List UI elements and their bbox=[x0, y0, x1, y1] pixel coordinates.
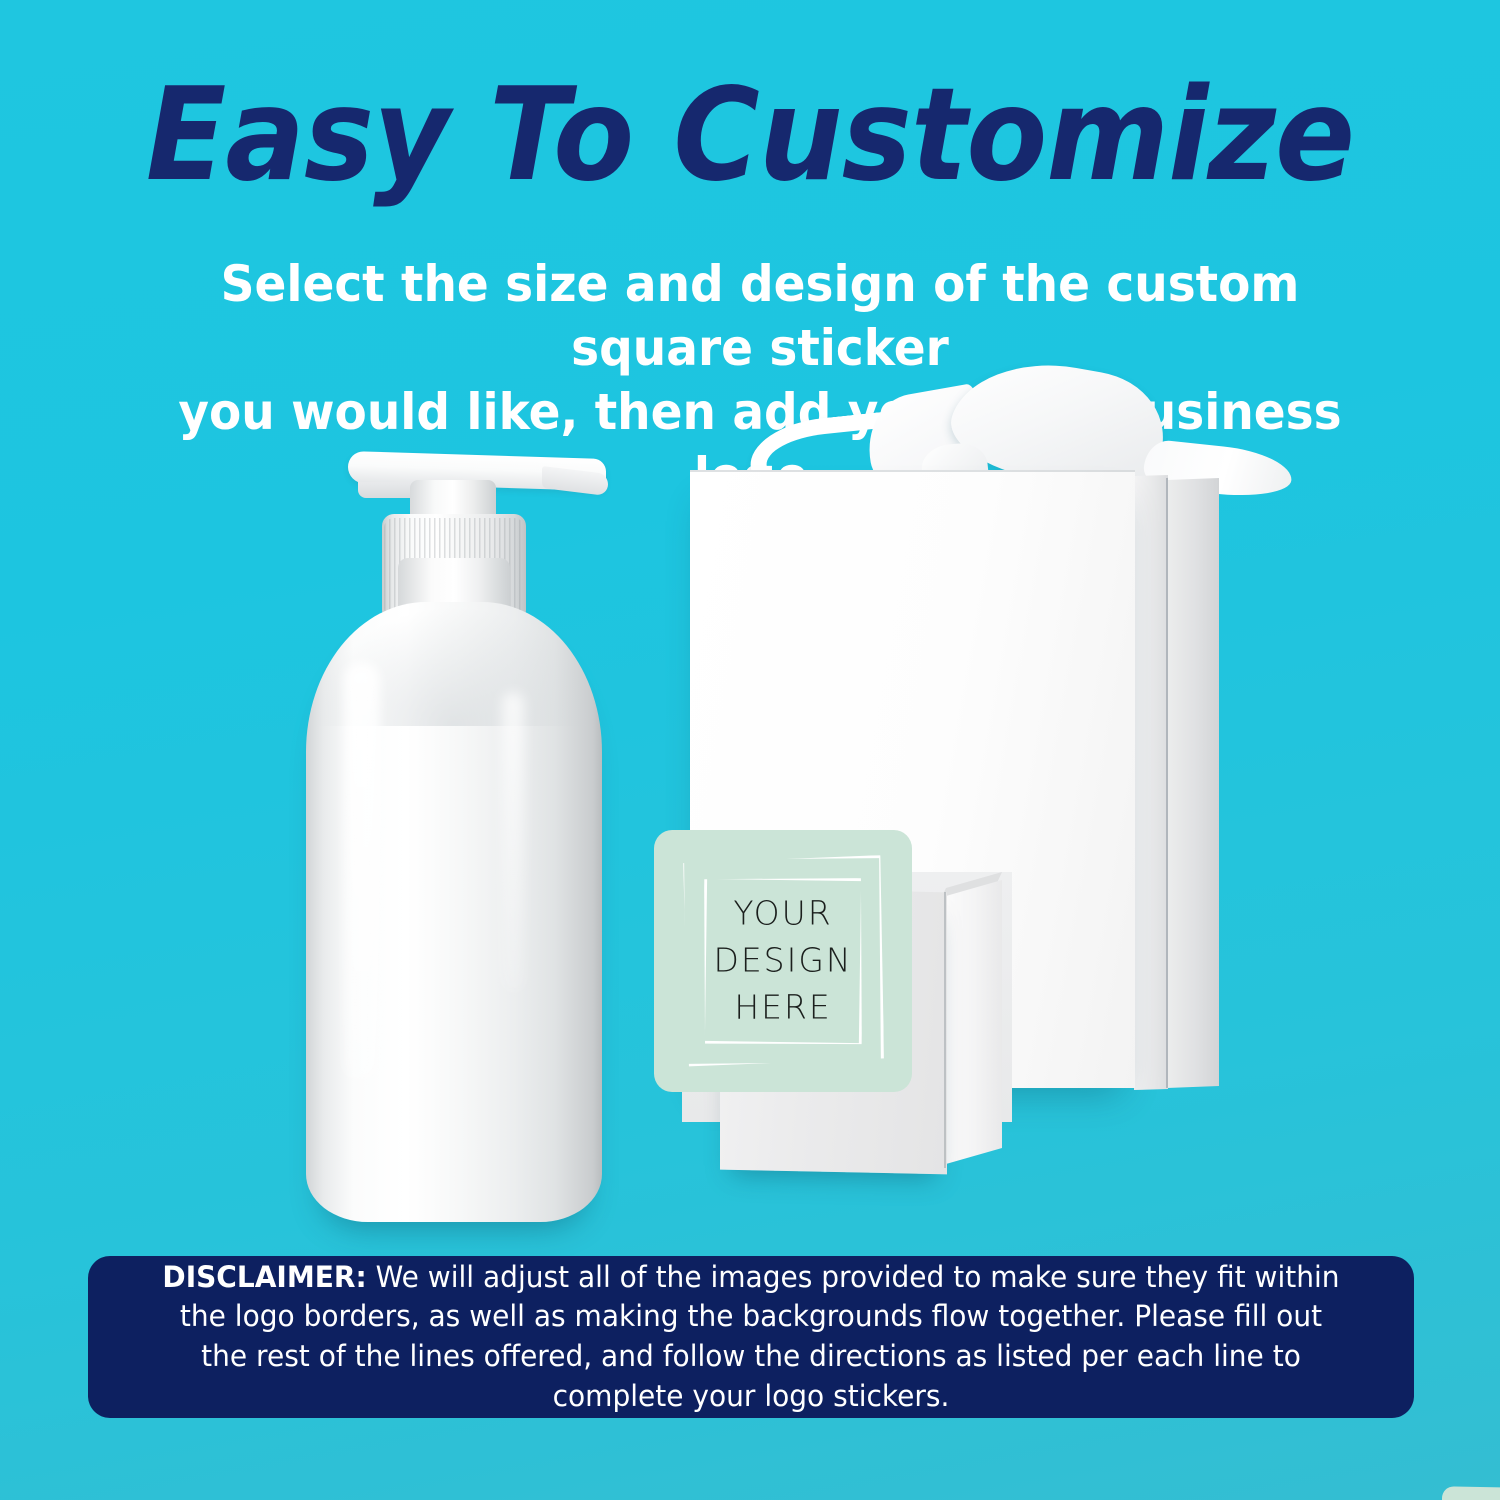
gift-box-lid-line bbox=[690, 470, 1135, 472]
bottle-highlight-right bbox=[502, 692, 524, 992]
sticker-on-bottle[interactable]: YOUR DESIGN HERE bbox=[654, 830, 912, 1092]
sticker-text-line-3: HERE bbox=[654, 984, 912, 1031]
promo-graphic-canvas: Easy To Customize Select the size and de… bbox=[0, 0, 1500, 1500]
gift-box-seam bbox=[1166, 478, 1168, 1088]
sticker-placeholder-text: YOUR DESIGN HERE bbox=[654, 891, 912, 1032]
disclaimer-text: DISCLAIMER: We will adjust all of the im… bbox=[157, 1258, 1345, 1416]
page-title: Easy To Customize bbox=[60, 72, 1440, 200]
sticker-text-line-1: YOUR bbox=[654, 891, 912, 938]
gift-box-side-panel-outer bbox=[1167, 478, 1219, 1088]
sticker-mint-background bbox=[1442, 1486, 1500, 1500]
page-subtitle-line-1: Select the size and design of the custom… bbox=[158, 252, 1361, 380]
sticker-on-carton[interactable]: YOUR DESIGN HERE bbox=[1442, 1486, 1500, 1500]
disclaimer-prefix: DISCLAIMER: bbox=[162, 1260, 366, 1294]
bottle-highlight-left bbox=[344, 662, 380, 1082]
sticker-text-line-2: DESIGN bbox=[654, 938, 912, 985]
disclaimer-banner: DISCLAIMER: We will adjust all of the im… bbox=[88, 1256, 1414, 1418]
product-mockup-stage: YOUR DESIGN HERE YOUR DESIGN HER bbox=[0, 380, 1500, 1240]
carton-side-face bbox=[946, 880, 1002, 1164]
carton-corner-edge bbox=[944, 892, 946, 1168]
gift-box-side-panel-inner bbox=[1134, 475, 1168, 1090]
